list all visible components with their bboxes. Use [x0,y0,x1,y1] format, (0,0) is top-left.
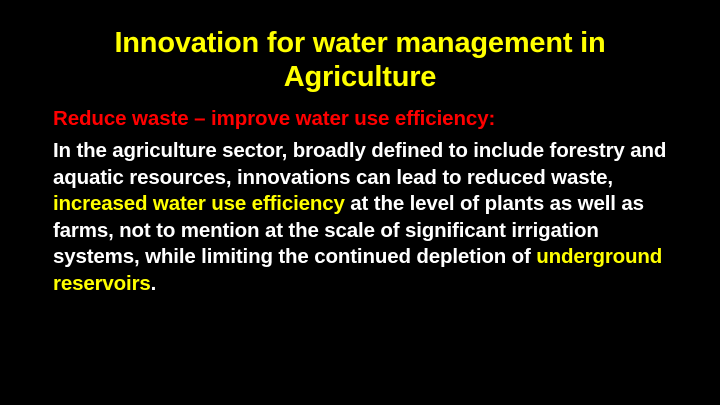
body-text-segment-5: . [151,272,157,295]
slide-title: Innovation for water management in Agric… [60,26,660,94]
highlight-water-use-efficiency: increased water use efficiency [53,192,345,215]
body-paragraph: In the agriculture sector, broadly defin… [53,138,671,297]
presentation-slide: Innovation for water management in Agric… [0,0,720,405]
sub-heading: Reduce waste – improve water use efficie… [53,106,671,132]
body-text-segment-1: In the agriculture sector, broadly defin… [53,139,666,189]
slide-body-block: Reduce waste – improve water use efficie… [53,106,671,297]
